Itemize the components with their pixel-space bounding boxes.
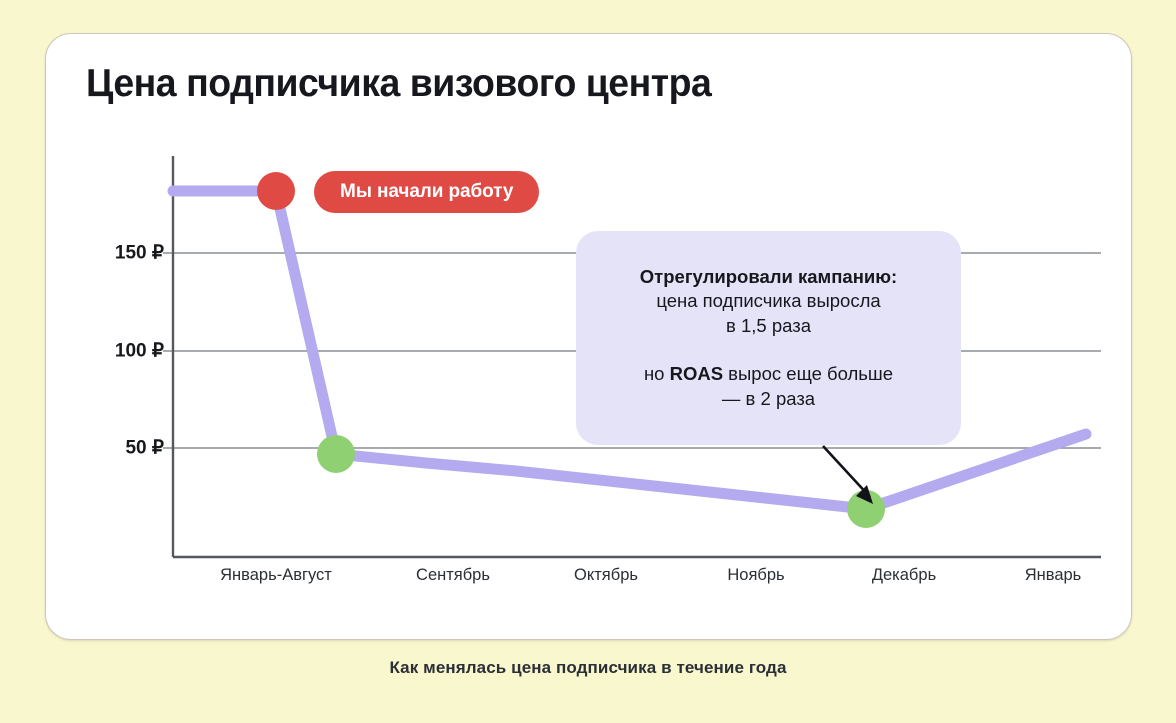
chart-caption: Как менялась цена подписчика в течение г… <box>0 658 1176 678</box>
y-axis-labels: 150 ₽ 100 ₽ 50 ₽ <box>76 156 164 558</box>
callout-line-4-post: вырос еще больше <box>723 363 893 384</box>
page-title: Цена подписчика визового центра <box>86 62 711 106</box>
callout-box: Отрегулировали кампанию: цена подписчика… <box>576 231 961 445</box>
x-tick-december: Декабрь <box>872 566 936 585</box>
callout-line-3: в 1,5 раза <box>726 315 811 336</box>
y-tick-150: 150 ₽ <box>115 242 164 265</box>
callout-arrow <box>823 446 873 504</box>
chart-card: Цена подписчика визового центра 150 ₽ 10… <box>45 33 1132 640</box>
september-marker[interactable] <box>317 435 355 473</box>
x-tick-jan-aug: Январь-Август <box>220 566 332 585</box>
callout-roas-term: ROAS <box>670 363 723 384</box>
y-tick-100: 100 ₽ <box>115 340 164 363</box>
status-badge[interactable]: Мы начали работу <box>314 171 539 213</box>
y-tick-50: 50 ₽ <box>125 437 164 460</box>
start-work-marker[interactable] <box>257 172 295 210</box>
x-tick-september: Сентябрь <box>416 566 490 585</box>
callout-line-5: — в 2 раза <box>722 388 815 409</box>
x-tick-january: Январь <box>1025 566 1082 585</box>
status-badge-label: Мы начали работу <box>340 181 513 203</box>
x-tick-october: Октябрь <box>574 566 638 585</box>
chart-stage: Цена подписчика визового центра 150 ₽ 10… <box>0 0 1176 723</box>
callout-paragraph-2: но ROAS вырос еще больше — в 2 раза <box>644 362 893 411</box>
x-tick-november: Ноябрь <box>727 566 784 585</box>
callout-paragraph-1: Отрегулировали кампанию: цена подписчика… <box>640 265 897 339</box>
x-axis-labels: Январь-Август Сентябрь Октябрь Ноябрь Де… <box>173 566 1148 600</box>
callout-line-2: цена подписчика выросла <box>656 290 880 311</box>
callout-heading: Отрегулировали кампанию: <box>640 266 897 287</box>
callout-line-4-pre: но <box>644 363 670 384</box>
